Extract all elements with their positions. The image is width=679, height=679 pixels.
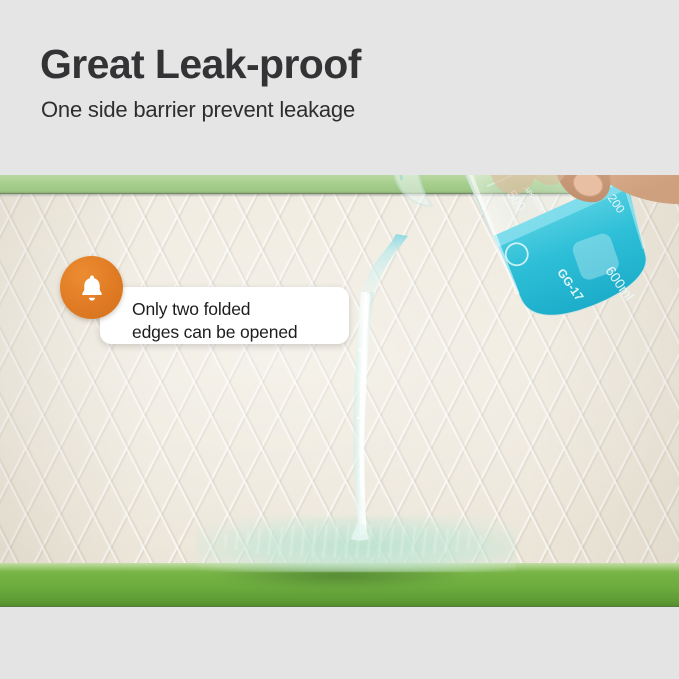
callout-line-1: Only two folded [132,298,362,321]
header-band: Great Leak-proof One side barrier preven… [0,0,679,175]
product-feature-image: 500 APPROX 400 200 GG-17 600ml [0,0,679,679]
callout-text: Only two folded edges can be opened [132,298,362,344]
page-subtitle: One side barrier prevent leakage [41,95,355,125]
mat-drop-shadow [0,606,679,607]
callout-line-2: edges can be opened [132,321,362,344]
bell-icon [76,272,108,304]
bell-badge [60,256,123,319]
feature-callout: Only two folded edges can be opened [60,256,360,344]
page-title: Great Leak-proof [40,40,361,88]
